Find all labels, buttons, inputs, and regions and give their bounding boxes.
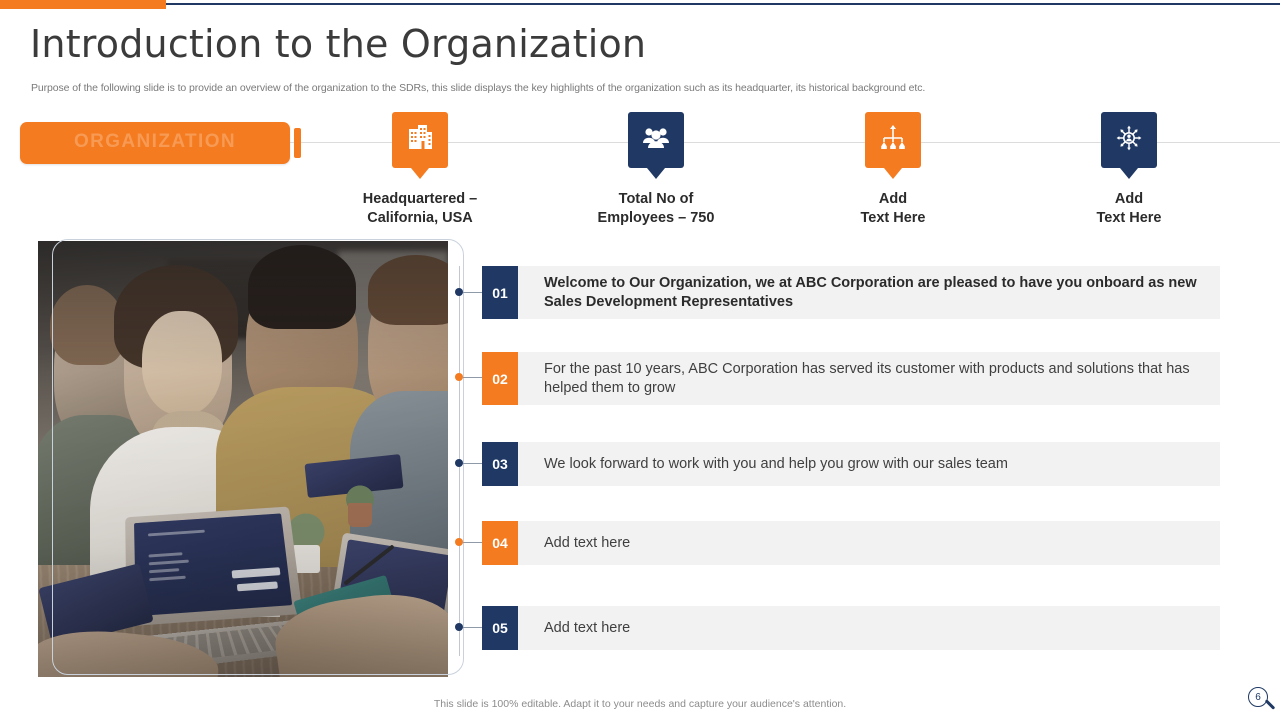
connector-stub-05 bbox=[463, 627, 482, 628]
feature-pointer bbox=[647, 168, 665, 179]
list-item[interactable]: 04 Add text here bbox=[482, 521, 1220, 565]
list-item-badge: 05 bbox=[482, 606, 518, 650]
organization-banner[interactable]: ORGANIZATION bbox=[20, 122, 290, 164]
connector-dot-01 bbox=[455, 288, 463, 296]
people-group-icon bbox=[641, 123, 671, 158]
feature-caption-add-text-1: Add Text Here bbox=[793, 190, 993, 228]
org-chart-icon bbox=[878, 123, 908, 158]
top-accent-bar bbox=[0, 0, 1280, 9]
feature-caption-add-text-2: Add Text Here bbox=[1029, 190, 1229, 228]
connector-dot-04 bbox=[455, 538, 463, 546]
feature-employees[interactable]: Total No of Employees – 750 bbox=[556, 112, 756, 228]
feature-pointer bbox=[1120, 168, 1138, 179]
feature-tile-add-text-1 bbox=[865, 112, 921, 168]
page-number-value: 6 bbox=[1248, 687, 1268, 707]
connector-stub-04 bbox=[463, 542, 482, 543]
list-item-text: Add text here bbox=[518, 521, 1220, 565]
list-item[interactable]: 05 Add text here bbox=[482, 606, 1220, 650]
feature-pointer bbox=[411, 168, 429, 179]
feature-tile-headquarters bbox=[392, 112, 448, 168]
list-item-text: We look forward to work with you and hel… bbox=[518, 442, 1220, 486]
list-item-badge: 01 bbox=[482, 266, 518, 319]
page-number-badge: 6 bbox=[1248, 687, 1278, 717]
organization-banner-label: ORGANIZATION bbox=[20, 131, 290, 153]
list-item[interactable]: 03 We look forward to work with you and … bbox=[482, 442, 1220, 486]
list-item-badge: 03 bbox=[482, 442, 518, 486]
connector-dot-03 bbox=[455, 459, 463, 467]
page-title: Introduction to the Organization bbox=[30, 22, 646, 66]
feature-caption-employees: Total No of Employees – 750 bbox=[556, 190, 756, 228]
team-photo-outline bbox=[52, 239, 464, 675]
feature-tile-employees bbox=[628, 112, 684, 168]
list-item-text: Add text here bbox=[518, 606, 1220, 650]
page-subtitle: Purpose of the following slide is to pro… bbox=[31, 82, 925, 94]
list-item-badge: 02 bbox=[482, 352, 518, 405]
list-item-text: For the past 10 years, ABC Corporation h… bbox=[518, 352, 1220, 405]
connector-stub-02 bbox=[463, 377, 482, 378]
list-item-text: Welcome to Our Organization, we at ABC C… bbox=[518, 266, 1220, 319]
connector-dot-02 bbox=[455, 373, 463, 381]
top-accent-navy-rule bbox=[166, 3, 1280, 5]
organization-banner-tab bbox=[294, 128, 301, 158]
top-accent-orange-segment bbox=[0, 0, 166, 9]
footer-note: This slide is 100% editable. Adapt it to… bbox=[0, 698, 1280, 710]
connector-stub-01 bbox=[463, 292, 482, 293]
feature-headquarters[interactable]: Headquartered – California, USA bbox=[320, 112, 520, 228]
connector-dot-05 bbox=[455, 623, 463, 631]
list-item-badge: 04 bbox=[482, 521, 518, 565]
person-network-icon bbox=[1114, 123, 1144, 158]
feature-add-text-1[interactable]: Add Text Here bbox=[793, 112, 993, 228]
feature-tile-add-text-2 bbox=[1101, 112, 1157, 168]
feature-strip: ORGANIZATION bbox=[0, 112, 1280, 222]
list-item[interactable]: 02 For the past 10 years, ABC Corporatio… bbox=[482, 352, 1220, 405]
team-photo bbox=[38, 241, 448, 677]
connector-stub-03 bbox=[463, 463, 482, 464]
feature-add-text-2[interactable]: Add Text Here bbox=[1029, 112, 1229, 228]
building-icon bbox=[405, 123, 435, 158]
feature-caption-headquarters: Headquartered – California, USA bbox=[320, 190, 520, 228]
feature-pointer bbox=[884, 168, 902, 179]
list-item[interactable]: 01 Welcome to Our Organization, we at AB… bbox=[482, 266, 1220, 319]
